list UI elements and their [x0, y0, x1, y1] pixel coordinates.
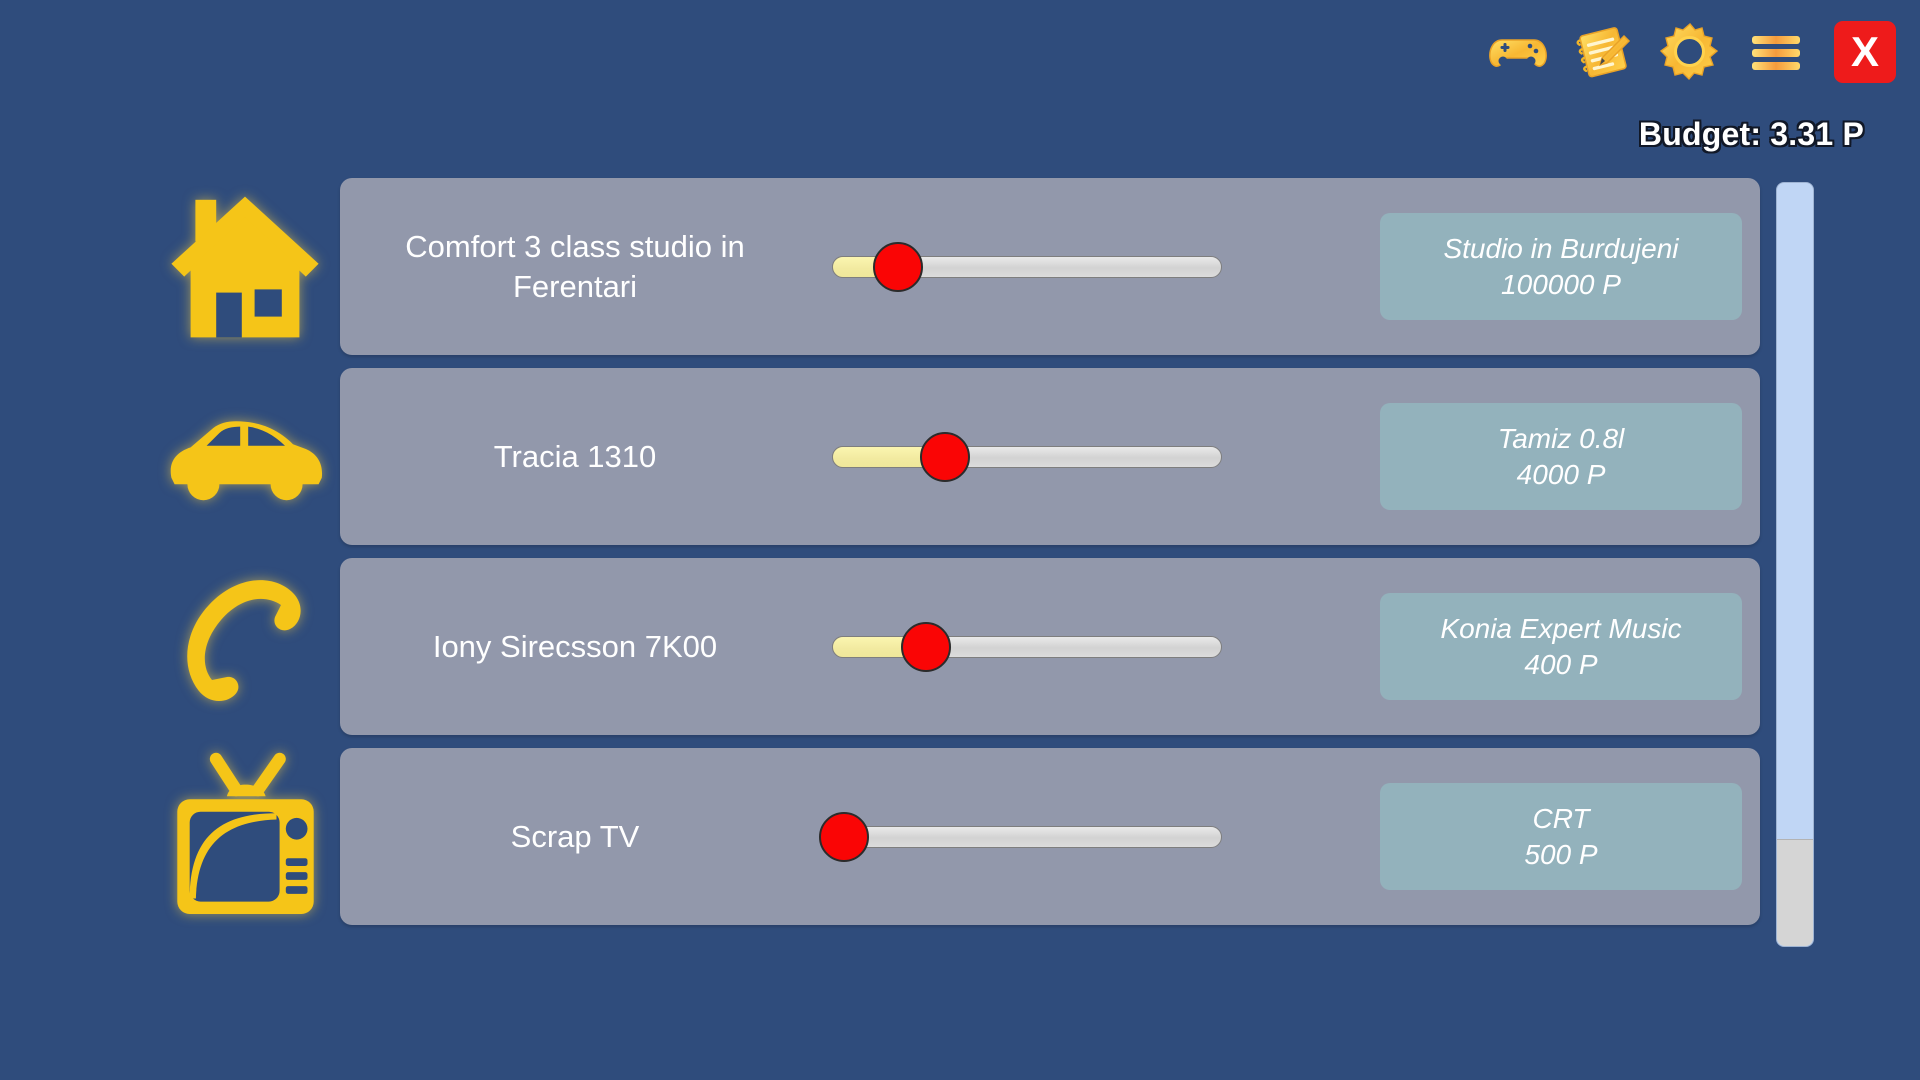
purchase-card[interactable]: Iony Sirecsson 7K00 Konia Expert Music 4…	[340, 558, 1760, 735]
notebook-pencil-icon[interactable]	[1572, 20, 1636, 84]
item-name: Iony Sirecsson 7K00	[340, 627, 810, 667]
item-name: Scrap TV	[340, 817, 810, 857]
slider-thumb[interactable]	[873, 242, 923, 292]
slider-thumb[interactable]	[920, 432, 970, 482]
row-icon-phone	[150, 558, 340, 735]
price-title: CRT	[1532, 801, 1589, 837]
purchase-card[interactable]: Comfort 3 class studio in Ferentari Stud…	[340, 178, 1760, 355]
scrollbar-thumb[interactable]	[1777, 839, 1813, 946]
quality-slider[interactable]	[832, 807, 1222, 867]
price-value: 100000 P	[1501, 267, 1621, 303]
price-box[interactable]: Tamiz 0.8l 4000 P	[1380, 403, 1742, 510]
close-label: X	[1851, 28, 1879, 76]
purchase-card[interactable]: Scrap TV CRT 500 P	[340, 748, 1760, 925]
quality-slider[interactable]	[832, 237, 1222, 297]
phone-icon	[170, 572, 320, 722]
purchase-list: Comfort 3 class studio in Ferentari Stud…	[0, 178, 1920, 948]
slider-thumb[interactable]	[819, 812, 869, 862]
house-icon	[165, 187, 325, 347]
price-box[interactable]: Konia Expert Music 400 P	[1380, 593, 1742, 700]
price-box[interactable]: Studio in Burdujeni 100000 P	[1380, 213, 1742, 320]
price-value: 400 P	[1524, 647, 1597, 683]
quality-slider[interactable]	[832, 617, 1222, 677]
purchase-card[interactable]: Tracia 1310 Tamiz 0.8l 4000 P	[340, 368, 1760, 545]
item-name: Tracia 1310	[340, 437, 810, 477]
car-icon	[165, 402, 325, 512]
row-icon-house	[150, 178, 340, 355]
toolbar: X	[1486, 20, 1896, 84]
vertical-scrollbar[interactable]	[1776, 182, 1814, 947]
table-row: Iony Sirecsson 7K00 Konia Expert Music 4…	[150, 558, 1760, 735]
price-value: 500 P	[1524, 837, 1597, 873]
price-title: Tamiz 0.8l	[1498, 421, 1625, 457]
quality-slider[interactable]	[832, 427, 1222, 487]
menu-icon[interactable]	[1744, 20, 1808, 84]
budget-label: Budget: 3.31 P	[1639, 116, 1864, 153]
gamepad-icon[interactable]	[1486, 20, 1550, 84]
top-bar: X Budget: 3.31 P	[0, 0, 1920, 170]
row-icon-tv	[150, 748, 340, 925]
price-title: Konia Expert Music	[1440, 611, 1681, 647]
gear-icon[interactable]	[1658, 20, 1722, 84]
slider-track	[832, 826, 1222, 848]
table-row: Comfort 3 class studio in Ferentari Stud…	[150, 178, 1760, 355]
row-icon-car	[150, 368, 340, 545]
price-value: 4000 P	[1517, 457, 1606, 493]
close-button[interactable]: X	[1834, 21, 1896, 83]
tv-icon	[168, 749, 323, 924]
price-box[interactable]: CRT 500 P	[1380, 783, 1742, 890]
price-title: Studio in Burdujeni	[1443, 231, 1678, 267]
item-name: Comfort 3 class studio in Ferentari	[340, 227, 810, 307]
table-row: Scrap TV CRT 500 P	[150, 748, 1760, 925]
table-row: Tracia 1310 Tamiz 0.8l 4000 P	[150, 368, 1760, 545]
slider-thumb[interactable]	[901, 622, 951, 672]
